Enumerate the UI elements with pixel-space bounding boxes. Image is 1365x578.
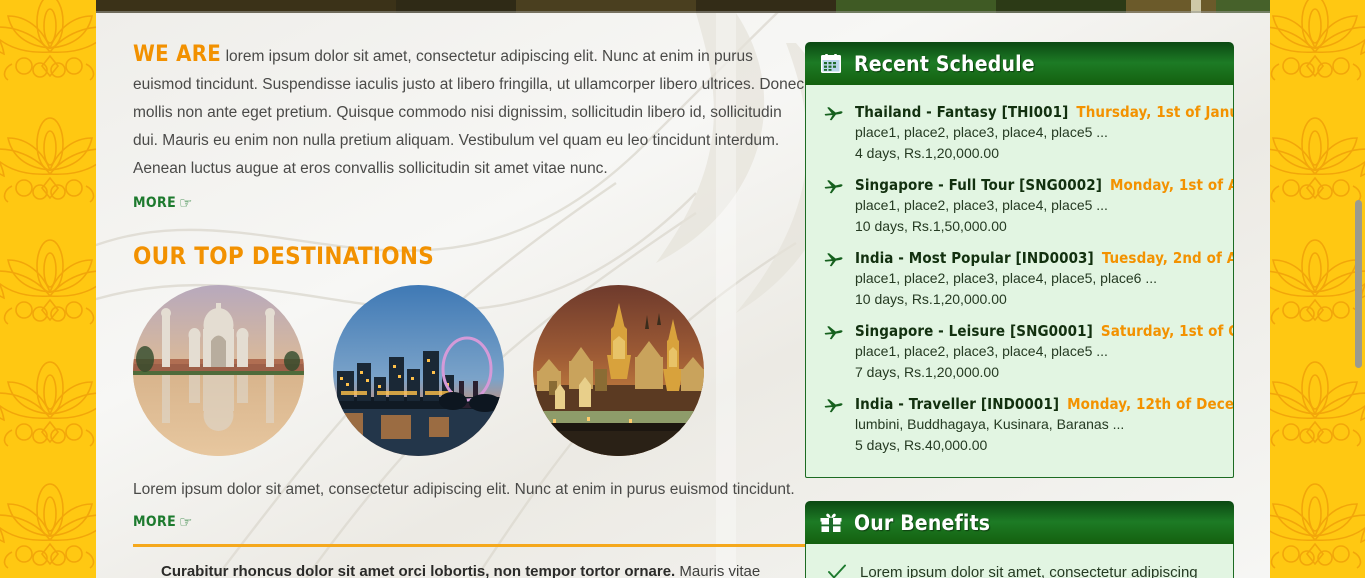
schedule-item-places: lumbini, Buddhagaya, Kusinara, Baranas .… [855,414,1234,435]
more-link-we-are[interactable]: MORE☞ [133,193,193,211]
schedule-item[interactable]: Singapore - Full Tour [SNG0002]Monday, 1… [806,170,1233,243]
destinations-caption: Lorem ipsum dolor sit amet, consectetur … [133,478,805,502]
airplane-icon [824,398,843,413]
check-icon [828,564,846,578]
we-are-paragraph: lorem ipsum dolor sit amet, consectetur … [133,48,804,177]
schedule-item-title-row: India - Most Popular [IND0003]Tuesday, 2… [855,249,1234,268]
schedule-item[interactable]: Singapore - Leisure [SNG0001]Saturday, 1… [806,316,1233,389]
benefit-item: Lorem ipsum dolor sit amet, consectetur … [806,558,1233,578]
schedule-item-title-row: Thailand - Fantasy [THI001]Thursday, 1st… [855,103,1234,122]
schedule-item-date: Monday, 1st of August, 2016 [1110,176,1234,194]
our-benefits-body: Lorem ipsum dolor sit amet, consectetur … [805,544,1234,578]
vertical-scrollbar[interactable] [1352,0,1365,578]
scrollbar-thumb[interactable] [1355,200,1362,368]
quote-bold: Curabitur rhoncus dolor sit amet orci lo… [161,563,675,578]
schedule-item[interactable]: India - Traveller [IND0001]Monday, 12th … [806,389,1233,462]
schedule-item-meta: 4 days, Rs.1,20,000.00 [855,143,1234,164]
schedule-item-date: Saturday, 1st of October, 2016 [1101,322,1234,340]
quote-rest: Mauris vitae [675,563,760,578]
destination-photo-bangkok[interactable] [533,285,704,456]
recent-schedule-title: Recent Schedule [854,52,1035,76]
airplane-icon [824,252,843,267]
recent-schedule-panel: Recent Schedule Thailand - Fantasy [THI0… [805,42,1234,478]
schedule-item-date: Thursday, 1st of January, 2015 [1076,103,1234,121]
schedule-item-name: Singapore - Leisure [SNG0001] [855,322,1093,340]
schedule-item-meta: 7 days, Rs.1,20,000.00 [855,362,1234,383]
schedule-item-text: India - Most Popular [IND0003]Tuesday, 2… [855,249,1234,310]
quote-text: Curabitur rhoncus dolor sit amet orci lo… [133,560,805,578]
main-column: WE ARE lorem ipsum dolor sit amet, conse… [133,42,805,578]
airplane-icon [824,179,843,194]
gift-icon [820,513,842,533]
schedule-item[interactable]: Thailand - Fantasy [THI001]Thursday, 1st… [806,97,1233,170]
schedule-item-text: Singapore - Leisure [SNG0001]Saturday, 1… [855,322,1234,383]
benefit-item-text: Lorem ipsum dolor sit amet, consectetur … [860,562,1219,578]
schedule-item-date: Monday, 12th of December, 2016 [1067,395,1234,413]
orange-divider [133,544,805,547]
top-banner-strip [96,0,1270,13]
content-sheet: WE ARE lorem ipsum dolor sit amet, conse… [96,13,1270,578]
sidebar: Recent Schedule Thailand - Fantasy [THI0… [805,42,1234,578]
airplane-icon [824,325,843,340]
schedule-item-places: place1, place2, place3, place4, place5 .… [855,341,1234,362]
destinations-gallery [133,285,805,456]
benefits-list: Lorem ipsum dolor sit amet, consectetur … [806,544,1233,578]
schedule-item-name: Thailand - Fantasy [THI001] [855,103,1068,121]
schedule-item-text: India - Traveller [IND0001]Monday, 12th … [855,395,1234,456]
our-benefits-panel: Our Benefits Lorem ipsum dolor sit amet,… [805,501,1234,578]
we-are-heading: WE ARE [133,42,221,67]
page-root: WE ARE lorem ipsum dolor sit amet, conse… [0,0,1365,578]
schedule-item-title-row: India - Traveller [IND0001]Monday, 12th … [855,395,1234,414]
more-link-label: MORE [133,195,176,211]
schedule-item-places: place1, place2, place3, place4, place5 .… [855,195,1234,216]
schedule-item-title-row: Singapore - Leisure [SNG0001]Saturday, 1… [855,322,1234,341]
our-benefits-title: Our Benefits [854,511,990,535]
schedule-item-text: Singapore - Full Tour [SNG0002]Monday, 1… [855,176,1234,237]
schedule-item-meta: 10 days, Rs.1,50,000.00 [855,216,1234,237]
more-link-destinations[interactable]: MORE☞ [133,512,193,530]
destination-photo-singapore[interactable] [333,285,504,456]
recent-schedule-header: Recent Schedule [805,42,1234,85]
destination-photo-taj-mahal[interactable] [133,285,304,456]
pointing-hand-right-icon: ☞ [179,194,193,212]
schedule-list: Thailand - Fantasy [THI001]Thursday, 1st… [806,85,1233,477]
schedule-item-name: India - Traveller [IND0001] [855,395,1059,413]
schedule-item-meta: 10 days, Rs.1,20,000.00 [855,289,1234,310]
schedule-item-date: Tuesday, 2nd of August, 2016 [1102,249,1234,267]
we-are-block: WE ARE lorem ipsum dolor sit amet, conse… [133,42,805,183]
schedule-item-name: Singapore - Full Tour [SNG0002] [855,176,1102,194]
recent-schedule-body: Thailand - Fantasy [THI001]Thursday, 1st… [805,85,1234,478]
schedule-item-text: Thailand - Fantasy [THI001]Thursday, 1st… [855,103,1234,164]
airplane-icon [824,106,843,121]
schedule-item[interactable]: India - Most Popular [IND0003]Tuesday, 2… [806,243,1233,316]
schedule-item-places: place1, place2, place3, place4, place5, … [855,268,1234,289]
schedule-item-name: India - Most Popular [IND0003] [855,249,1094,267]
calendar-icon [820,54,842,74]
our-benefits-header: Our Benefits [805,501,1234,544]
schedule-item-title-row: Singapore - Full Tour [SNG0002]Monday, 1… [855,176,1234,195]
schedule-item-places: place1, place2, place3, place4, place5 .… [855,122,1234,143]
schedule-item-meta: 5 days, Rs.40,000.00 [855,435,1234,456]
top-destinations-heading: OUR TOP DESTINATIONS [133,241,805,271]
pointing-hand-right-icon: ☞ [179,513,193,531]
more-link-label: MORE [133,514,176,530]
